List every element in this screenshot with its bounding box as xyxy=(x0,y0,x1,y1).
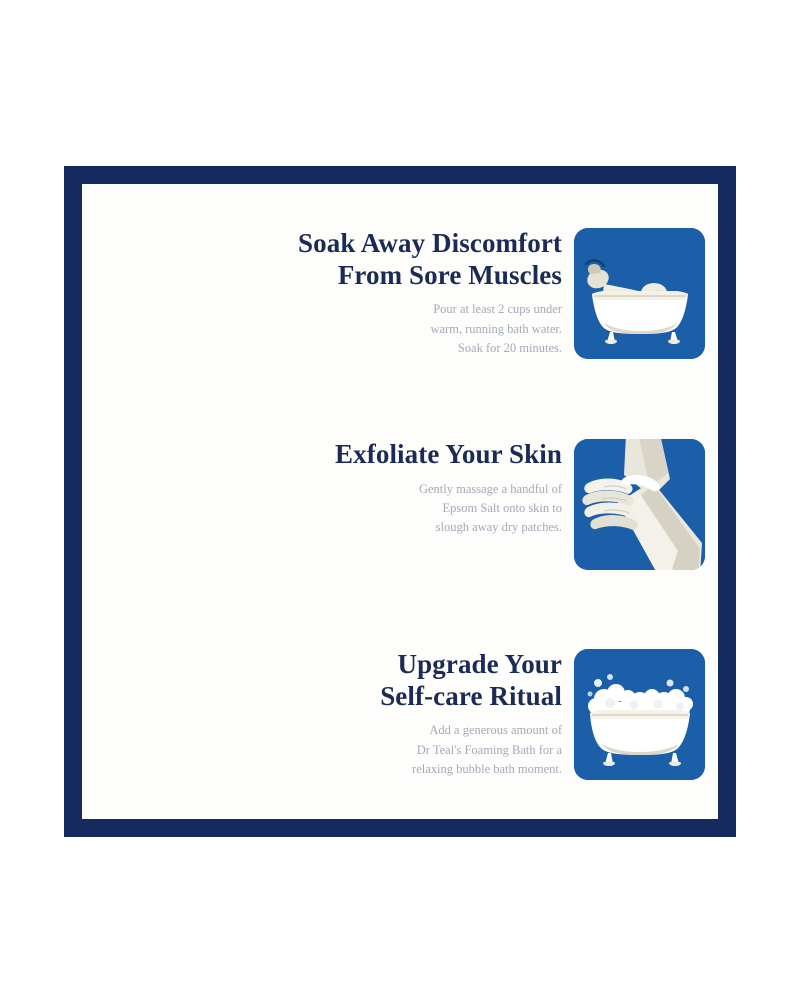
benefit-heading: Exfoliate Your Skin xyxy=(184,439,562,471)
benefit-body: Pour at least 2 cups under warm, running… xyxy=(184,300,562,358)
benefit-row: Soak Away Discomfort From Sore Muscles P… xyxy=(82,228,718,378)
benefit-heading: Soak Away Discomfort From Sore Muscles xyxy=(184,228,562,291)
bubble-bath-tub-icon xyxy=(574,649,705,780)
benefit-text-block: Exfoliate Your Skin Gently massage a han… xyxy=(184,439,574,538)
benefit-body: Gently massage a handful of Epsom Salt o… xyxy=(184,480,562,538)
benefit-text-block: Upgrade Your Self-care Ritual Add a gene… xyxy=(184,649,574,779)
benefit-text-block: Soak Away Discomfort From Sore Muscles P… xyxy=(184,228,574,358)
benefits-card-inner: Soak Away Discomfort From Sore Muscles P… xyxy=(82,184,718,819)
benefit-row: Exfoliate Your Skin Gently massage a han… xyxy=(82,439,718,589)
benefit-heading: Upgrade Your Self-care Ritual xyxy=(184,649,562,712)
benefit-body: Add a generous amount of Dr Teal's Foami… xyxy=(184,721,562,779)
benefit-row: Upgrade Your Self-care Ritual Add a gene… xyxy=(82,649,718,799)
bathtub-with-person-icon xyxy=(574,228,705,359)
benefits-card: Soak Away Discomfort From Sore Muscles P… xyxy=(64,166,736,837)
hand-massaging-leg-icon xyxy=(574,439,705,570)
